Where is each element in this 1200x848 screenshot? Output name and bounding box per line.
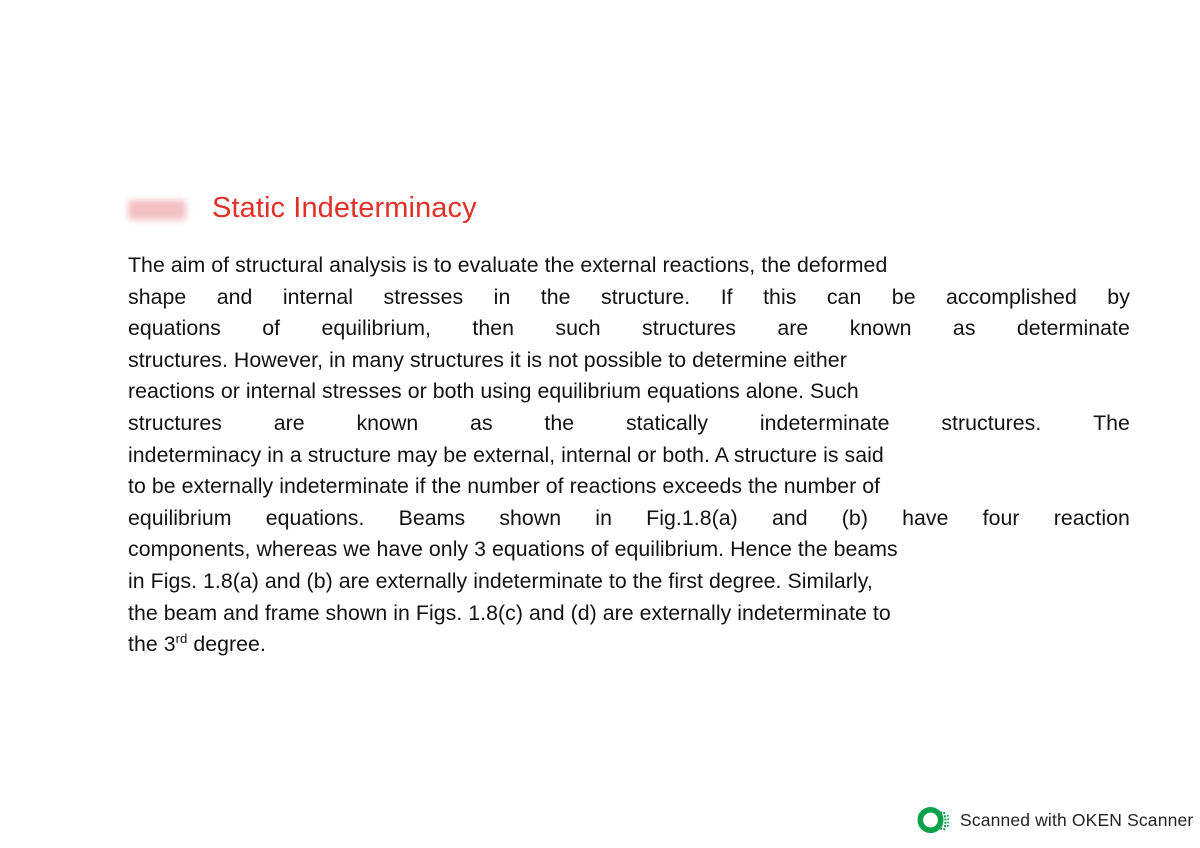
text-run: structure.	[601, 282, 690, 314]
text-run: (b)	[842, 503, 868, 535]
text-run: the	[544, 408, 574, 440]
text-run: Fig.1.8(a)	[646, 503, 738, 535]
text-run: equations.	[266, 503, 365, 535]
text-line: structures. However, in many structures …	[128, 345, 1130, 377]
text-line: in Figs. 1.8(a) and (b) are externally i…	[128, 566, 1130, 598]
text-run: such	[555, 313, 600, 345]
text-run: the 3	[128, 632, 176, 656]
text-line: indeterminacy in a structure may be exte…	[128, 440, 1130, 472]
text-run: and	[772, 503, 808, 535]
text-run: known	[356, 408, 418, 440]
text-run: structures.	[941, 408, 1041, 440]
text-run: reactions or internal stresses or both u…	[128, 379, 859, 403]
text-run: as	[470, 408, 493, 440]
text-line: The aim of structural analysis is to eva…	[128, 250, 1130, 282]
text-run: this	[763, 282, 796, 314]
text-line: shape and internal stresses in the struc…	[128, 282, 1130, 314]
text-line: components, whereas we have only 3 equat…	[128, 534, 1130, 566]
page-title: Static Indeterminacy	[212, 191, 477, 225]
text-run: as	[953, 313, 976, 345]
text-run: equilibrium,	[321, 313, 431, 345]
body-paragraph: The aim of structural analysis is to eva…	[128, 250, 1130, 661]
text-run: The	[1093, 408, 1130, 440]
text-line-final: the 3rd degree.	[128, 629, 1130, 661]
text-run: to be externally indeterminate if the nu…	[128, 474, 880, 498]
text-run: in	[494, 282, 511, 314]
text-run: are	[274, 408, 305, 440]
text-line: equilibrium equations. Beams shown in Fi…	[128, 503, 1130, 535]
ordinal-superscript: rd	[176, 631, 188, 646]
scanned-document-page: Static Indeterminacy The aim of structur…	[0, 0, 1200, 848]
text-run: of	[262, 313, 280, 345]
text-run: four	[983, 503, 1020, 535]
text-line: to be externally indeterminate if the nu…	[128, 471, 1130, 503]
text-run: indeterminate	[760, 408, 890, 440]
text-line: equations of equilibrium, then such stru…	[128, 313, 1130, 345]
text-run: degree.	[187, 632, 266, 656]
text-run: reaction	[1054, 503, 1130, 535]
oken-scanner-logo-icon	[916, 803, 950, 837]
text-run: in Figs. 1.8(a) and (b) are externally i…	[128, 569, 873, 593]
text-run: equilibrium	[128, 503, 232, 535]
text-run: statically	[626, 408, 708, 440]
text-run: in	[595, 503, 612, 535]
text-run: accomplished	[946, 282, 1077, 314]
text-run: have	[902, 503, 948, 535]
section-number-smudge	[128, 200, 186, 220]
text-run: internal	[283, 282, 353, 314]
text-run: the beam and frame shown in Figs. 1.8(c)…	[128, 601, 891, 625]
text-run: equations	[128, 313, 221, 345]
section-heading: Static Indeterminacy	[128, 186, 477, 230]
text-run: shown	[499, 503, 561, 535]
text-line: the beam and frame shown in Figs. 1.8(c)…	[128, 598, 1130, 630]
text-run: then	[472, 313, 514, 345]
text-run: structures	[642, 313, 736, 345]
text-run: stresses	[384, 282, 464, 314]
text-run: If	[721, 282, 733, 314]
text-run: by	[1107, 282, 1130, 314]
text-run: indeterminacy in a structure may be exte…	[128, 443, 884, 467]
text-run: shape	[128, 282, 186, 314]
text-run: the	[541, 282, 571, 314]
text-run: determinate	[1017, 313, 1130, 345]
text-run: components, whereas we have only 3 equat…	[128, 537, 898, 561]
text-run: be	[892, 282, 916, 314]
text-run: and	[217, 282, 253, 314]
text-run: structures. However, in many structures …	[128, 348, 847, 372]
text-line: reactions or internal stresses or both u…	[128, 376, 1130, 408]
text-run: structures	[128, 408, 222, 440]
text-run: Beams	[399, 503, 466, 535]
text-run: known	[850, 313, 912, 345]
watermark-label: Scanned with OKEN Scanner	[960, 810, 1193, 830]
text-run: The aim of structural analysis is to eva…	[128, 253, 887, 277]
text-run: can	[827, 282, 862, 314]
scanner-watermark: Scanned with OKEN Scanner	[916, 803, 1193, 837]
text-line: structures are known as the statically i…	[128, 408, 1130, 440]
text-run: are	[777, 313, 808, 345]
